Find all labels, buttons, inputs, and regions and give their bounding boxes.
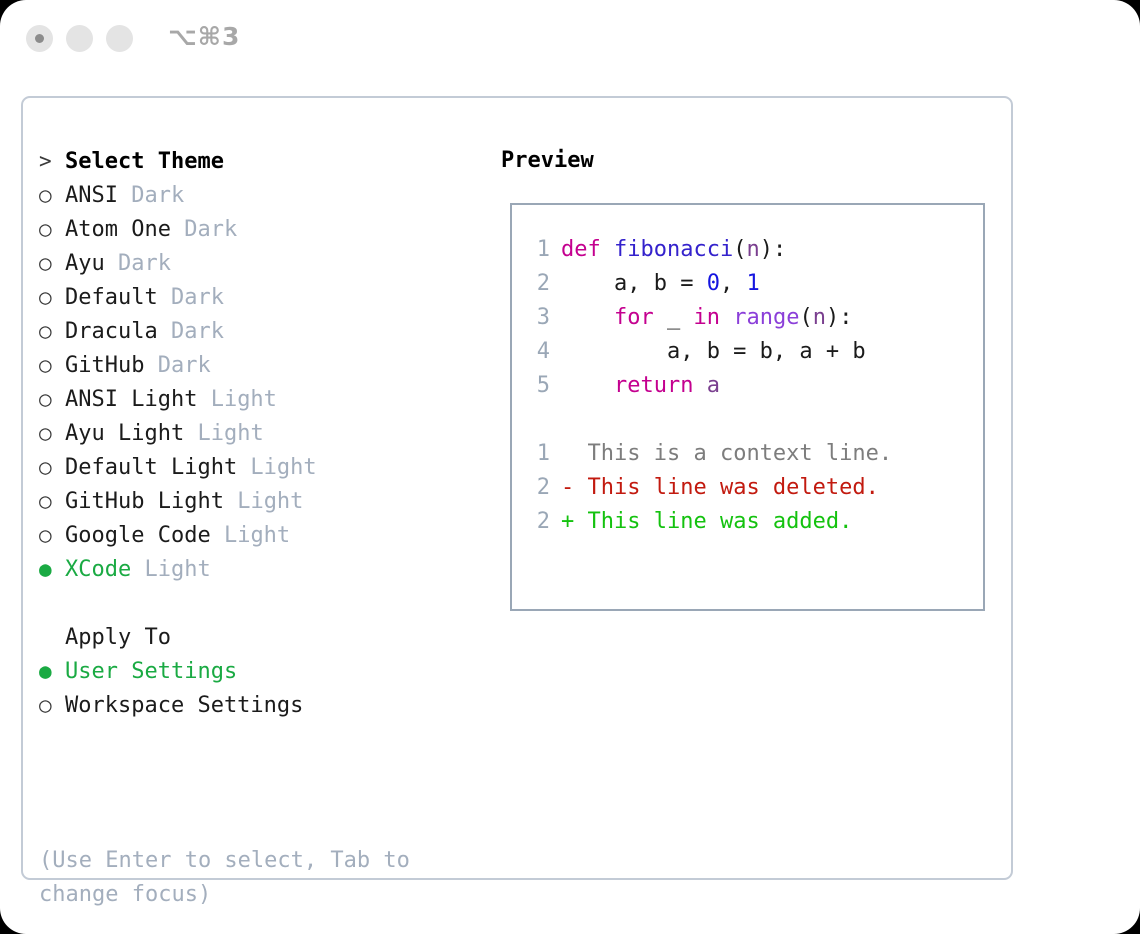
theme-variant-badge: Dark bbox=[105, 251, 171, 276]
theme-name: Google Code bbox=[65, 523, 211, 548]
code-token: range bbox=[733, 305, 799, 330]
code-token bbox=[561, 373, 614, 398]
code-line: 4 a, b = b, a + b bbox=[524, 335, 892, 369]
theme-list-item-ansi[interactable]: ○ANSI Dark bbox=[39, 178, 469, 212]
theme-name: GitHub bbox=[65, 353, 144, 378]
theme-variant-badge: Light bbox=[237, 455, 316, 480]
theme-list-item-ayu[interactable]: ○Ayu Dark bbox=[39, 246, 469, 280]
section-spacer bbox=[39, 586, 469, 620]
theme-variant-badge: Light bbox=[184, 421, 263, 446]
theme-name: Atom One bbox=[65, 217, 171, 242]
theme-list-item-dracula[interactable]: ○Dracula Dark bbox=[39, 314, 469, 348]
app-window: ⌥⌘3 >Select Theme○ANSI Dark○Atom One Dar… bbox=[0, 0, 1140, 934]
theme-variant-badge: Dark bbox=[158, 319, 224, 344]
theme-name: XCode bbox=[65, 557, 131, 582]
code-line: 2 a, b = 0, 1 bbox=[524, 267, 892, 301]
diff-line-text: This line was added. bbox=[588, 509, 853, 534]
radio-bullet-icon: ● bbox=[39, 552, 65, 586]
diff-line-number: 2 bbox=[524, 505, 550, 539]
code-token: n bbox=[813, 305, 826, 330]
code-blank-line bbox=[524, 403, 892, 437]
diff-marker bbox=[561, 441, 588, 466]
radio-bullet-icon: ○ bbox=[39, 484, 65, 518]
radio-bullet-icon: ○ bbox=[39, 382, 65, 416]
diff-line-del: 2- This line was deleted. bbox=[524, 471, 892, 505]
diff-marker: - bbox=[561, 475, 588, 500]
theme-list-item-atom-one[interactable]: ○Atom One Dark bbox=[39, 212, 469, 246]
radio-bullet-icon: ○ bbox=[39, 450, 65, 484]
window-titlebar: ⌥⌘3 bbox=[0, 0, 1140, 78]
theme-list-item-default[interactable]: ○Default Dark bbox=[39, 280, 469, 314]
radio-bullet-icon: ○ bbox=[39, 178, 65, 212]
theme-list-item-ansi-light[interactable]: ○ANSI Light Light bbox=[39, 382, 469, 416]
code-token: a bbox=[707, 373, 720, 398]
radio-bullet-icon: ○ bbox=[39, 348, 65, 382]
theme-list-item-default-light[interactable]: ○Default Light Light bbox=[39, 450, 469, 484]
code-preview: 1def fibonacci(n):2 a, b = 0, 13 for _ i… bbox=[524, 233, 892, 539]
radio-bullet-icon: ○ bbox=[39, 518, 65, 552]
keyboard-shortcut-label: ⌥⌘3 bbox=[168, 22, 240, 51]
code-token: n bbox=[746, 237, 759, 262]
code-token: a, b = bbox=[561, 271, 707, 296]
code-token: _ bbox=[654, 305, 694, 330]
preview-heading: Preview bbox=[501, 144, 594, 178]
theme-name: Default Light bbox=[65, 455, 237, 480]
code-line-number: 2 bbox=[524, 267, 550, 301]
theme-name: Ayu Light bbox=[65, 421, 184, 446]
theme-name: ANSI Light bbox=[65, 387, 197, 412]
theme-selector-panel: >Select Theme○ANSI Dark○Atom One Dark○Ay… bbox=[21, 96, 1013, 880]
code-token bbox=[561, 305, 614, 330]
code-token: ): bbox=[760, 237, 787, 262]
theme-list-item-github-light[interactable]: ○GitHub Light Light bbox=[39, 484, 469, 518]
theme-name: ANSI bbox=[65, 183, 118, 208]
apply-to-option-user-settings[interactable]: ●User Settings bbox=[39, 654, 469, 688]
diff-marker: + bbox=[561, 509, 588, 534]
keyboard-hint-text: (Use Enter to select, Tab to change focu… bbox=[39, 844, 459, 912]
diff-line-add: 2+ This line was added. bbox=[524, 505, 892, 539]
window-dot-active[interactable] bbox=[26, 25, 53, 52]
theme-variant-badge: Light bbox=[211, 523, 290, 548]
code-line-number: 5 bbox=[524, 369, 550, 403]
radio-bullet-icon: ○ bbox=[39, 416, 65, 450]
theme-name: Dracula bbox=[65, 319, 158, 344]
code-line: 3 for _ in range(n): bbox=[524, 301, 892, 335]
apply-to-heading-label: Apply To bbox=[65, 625, 171, 650]
code-line-number: 1 bbox=[524, 233, 550, 267]
apply-to-option-workspace-settings[interactable]: ○Workspace Settings bbox=[39, 688, 469, 722]
theme-variant-badge: Light bbox=[131, 557, 210, 582]
apply-to-heading: Apply To bbox=[39, 620, 469, 654]
diff-line-number: 1 bbox=[524, 437, 550, 471]
theme-variant-badge: Dark bbox=[144, 353, 210, 378]
window-dot-active-core bbox=[35, 34, 44, 43]
apply-to-option-label: User Settings bbox=[65, 659, 237, 684]
radio-bullet-icon: ● bbox=[39, 654, 65, 688]
radio-bullet-icon: ○ bbox=[39, 280, 65, 314]
theme-variant-badge: Dark bbox=[118, 183, 184, 208]
code-token: , bbox=[720, 271, 747, 296]
prompt-caret-icon: > bbox=[39, 144, 65, 178]
code-token: ( bbox=[799, 305, 812, 330]
theme-list-heading: >Select Theme bbox=[39, 144, 469, 178]
code-token: 1 bbox=[746, 271, 759, 296]
theme-name: Ayu bbox=[65, 251, 105, 276]
window-dot-third[interactable] bbox=[106, 25, 133, 52]
theme-variant-badge: Light bbox=[197, 387, 276, 412]
diff-line-ctx: 1 This is a context line. bbox=[524, 437, 892, 471]
radio-bullet-icon: ○ bbox=[39, 314, 65, 348]
preview-box: 1def fibonacci(n):2 a, b = 0, 13 for _ i… bbox=[510, 203, 985, 611]
code-token: for bbox=[614, 305, 654, 330]
code-token: return bbox=[614, 373, 693, 398]
code-token: in bbox=[693, 305, 720, 330]
code-token: 0 bbox=[707, 271, 720, 296]
theme-list-item-google-code[interactable]: ○Google Code Light bbox=[39, 518, 469, 552]
theme-name: GitHub Light bbox=[65, 489, 224, 514]
theme-variant-badge: Dark bbox=[171, 217, 237, 242]
radio-bullet-icon: ○ bbox=[39, 212, 65, 246]
code-line-number: 3 bbox=[524, 301, 550, 335]
theme-list-item-xcode[interactable]: ●XCode Light bbox=[39, 552, 469, 586]
apply-to-bullet-placeholder bbox=[39, 620, 65, 654]
theme-list-item-ayu-light[interactable]: ○Ayu Light Light bbox=[39, 416, 469, 450]
code-token: a, b = b, a + b bbox=[561, 339, 866, 364]
apply-to-option-label: Workspace Settings bbox=[65, 693, 303, 718]
theme-list-heading-label: Select Theme bbox=[65, 149, 224, 174]
diff-line-text: This line was deleted. bbox=[588, 475, 879, 500]
code-line: 5 return a bbox=[524, 369, 892, 403]
code-token bbox=[720, 305, 733, 330]
radio-bullet-icon: ○ bbox=[39, 688, 65, 722]
code-token bbox=[693, 373, 706, 398]
diff-line-text: This is a context line. bbox=[588, 441, 893, 466]
theme-name: Default bbox=[65, 285, 158, 310]
code-token: fibonacci bbox=[614, 237, 733, 262]
code-line: 1def fibonacci(n): bbox=[524, 233, 892, 267]
window-dot-second[interactable] bbox=[66, 25, 93, 52]
theme-variant-badge: Dark bbox=[158, 285, 224, 310]
radio-bullet-icon: ○ bbox=[39, 246, 65, 280]
code-token: ( bbox=[733, 237, 746, 262]
theme-list: >Select Theme○ANSI Dark○Atom One Dark○Ay… bbox=[39, 144, 469, 722]
code-token: ): bbox=[826, 305, 853, 330]
diff-line-number: 2 bbox=[524, 471, 550, 505]
theme-variant-badge: Light bbox=[224, 489, 303, 514]
code-token: def bbox=[561, 237, 614, 262]
code-line-number: 4 bbox=[524, 335, 550, 369]
theme-list-item-github[interactable]: ○GitHub Dark bbox=[39, 348, 469, 382]
